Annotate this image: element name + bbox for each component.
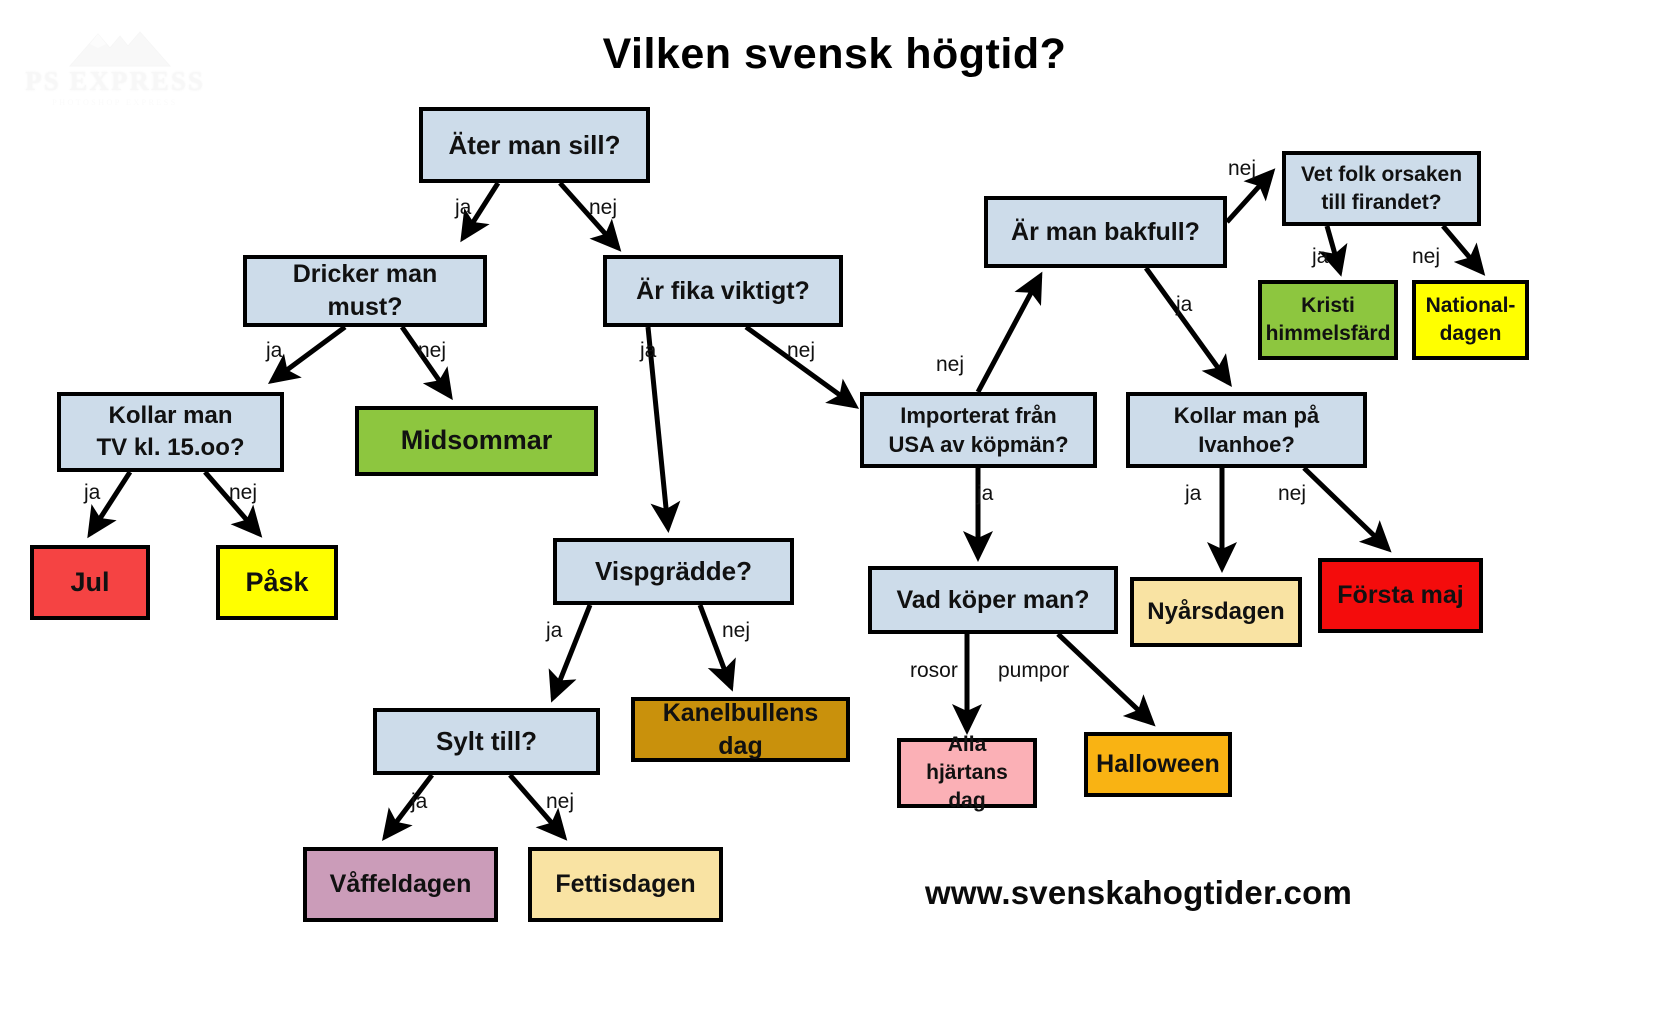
edge-label-dricker_man_must-to-kollar_man_tv: ja bbox=[266, 339, 282, 363]
website-url: www.svenskahogtider.com bbox=[925, 874, 1352, 912]
flow-arrow bbox=[272, 327, 345, 381]
node-fettisdagen[interactable]: Fettisdagen bbox=[528, 847, 723, 922]
node-vet_folk_orsaken[interactable]: Vet folk orsaken till firandet? bbox=[1282, 151, 1481, 226]
edge-label-ar_fika_viktigt-to-importerat_usa: nej bbox=[787, 339, 815, 363]
node-ater_man_sill[interactable]: Äter man sill? bbox=[419, 107, 650, 183]
edge-label-vad_koper_man-to-halloween: pumpor bbox=[998, 659, 1069, 683]
edge-label-vet_folk_orsaken-to-kristi_himmelsfard: ja bbox=[1312, 245, 1328, 269]
node-jul[interactable]: Jul bbox=[30, 545, 150, 620]
edge-label-vad_koper_man-to-alla_hjartans_dag: rosor bbox=[910, 659, 958, 683]
node-vispgradde[interactable]: Vispgrädde? bbox=[553, 538, 794, 605]
node-alla_hjartans_dag[interactable]: Alla hjärtans dag bbox=[897, 738, 1037, 808]
edge-label-ar_man_bakfull-to-kollar_ivanhoe: ja bbox=[1176, 293, 1192, 317]
edge-label-sylt_till-to-fettisdagen: nej bbox=[546, 790, 574, 814]
edge-label-dricker_man_must-to-midsommar: nej bbox=[418, 339, 446, 363]
node-kristi_himmelsfard[interactable]: Kristi himmelsfärd bbox=[1258, 280, 1398, 360]
node-forsta_maj[interactable]: Första maj bbox=[1318, 558, 1483, 633]
edge-label-ater_man_sill-to-dricker_man_must: ja bbox=[455, 196, 471, 220]
node-ar_man_bakfull[interactable]: Är man bakfull? bbox=[984, 196, 1227, 268]
node-vaffeldagen[interactable]: Våffeldagen bbox=[303, 847, 498, 922]
node-kollar_ivanhoe[interactable]: Kollar man på Ivanhoe? bbox=[1126, 392, 1367, 468]
node-sylt_till[interactable]: Sylt till? bbox=[373, 708, 600, 775]
edge-label-kollar_ivanhoe-to-nyarsdagen: ja bbox=[1185, 482, 1201, 506]
node-kanelbullens_dag[interactable]: Kanelbullens dag bbox=[631, 697, 850, 762]
edge-label-importerat_usa-to-ar_man_bakfull: nej bbox=[936, 353, 964, 377]
flow-arrow bbox=[1058, 634, 1152, 723]
flow-arrow bbox=[1327, 226, 1340, 272]
node-dricker_man_must[interactable]: Dricker man must? bbox=[243, 255, 487, 327]
edge-label-vet_folk_orsaken-to-nationaldagen: nej bbox=[1412, 245, 1440, 269]
edge-label-ar_man_bakfull-to-vet_folk_orsaken: nej bbox=[1228, 157, 1256, 181]
flow-arrow bbox=[700, 605, 731, 687]
flow-arrow bbox=[1146, 268, 1229, 383]
edge-label-ar_fika_viktigt-to-vispgradde: ja bbox=[640, 339, 656, 363]
flow-arrow bbox=[1443, 226, 1482, 272]
watermark-subtext: PHOTOSHOP EXPRESS bbox=[10, 98, 220, 107]
node-pask[interactable]: Påsk bbox=[216, 545, 338, 620]
edge-label-importerat_usa-to-vad_koper_man: ja bbox=[977, 482, 993, 506]
edge-label-kollar_man_tv-to-pask: nej bbox=[229, 481, 257, 505]
edge-label-vispgradde-to-sylt_till: ja bbox=[546, 619, 562, 643]
node-nyarsdagen[interactable]: Nyårsdagen bbox=[1130, 577, 1302, 647]
node-halloween[interactable]: Halloween bbox=[1084, 732, 1232, 797]
node-importerat_usa[interactable]: Importerat från USA av köpmän? bbox=[860, 392, 1097, 468]
node-kollar_man_tv[interactable]: Kollar man TV kl. 15.oo? bbox=[57, 392, 284, 472]
edge-label-sylt_till-to-vaffeldagen: ja bbox=[411, 790, 427, 814]
edge-label-vispgradde-to-kanelbullens_dag: nej bbox=[722, 619, 750, 643]
flow-arrow bbox=[1304, 468, 1388, 549]
node-ar_fika_viktigt[interactable]: Är fika viktigt? bbox=[603, 255, 843, 327]
node-nationaldagen[interactable]: National- dagen bbox=[1412, 280, 1529, 360]
page-title: Vilken svensk högtid? bbox=[0, 30, 1669, 79]
edge-label-kollar_ivanhoe-to-forsta_maj: nej bbox=[1278, 482, 1306, 506]
edge-label-kollar_man_tv-to-jul: ja bbox=[84, 481, 100, 505]
node-midsommar[interactable]: Midsommar bbox=[355, 406, 598, 476]
flow-arrow bbox=[978, 276, 1040, 392]
node-vad_koper_man[interactable]: Vad köper man? bbox=[868, 566, 1118, 634]
flowchart-page: PS EXPRESS PHOTOSHOP EXPRESS Vilken sven… bbox=[0, 0, 1669, 1032]
edge-label-ater_man_sill-to-ar_fika_viktigt: nej bbox=[589, 196, 617, 220]
